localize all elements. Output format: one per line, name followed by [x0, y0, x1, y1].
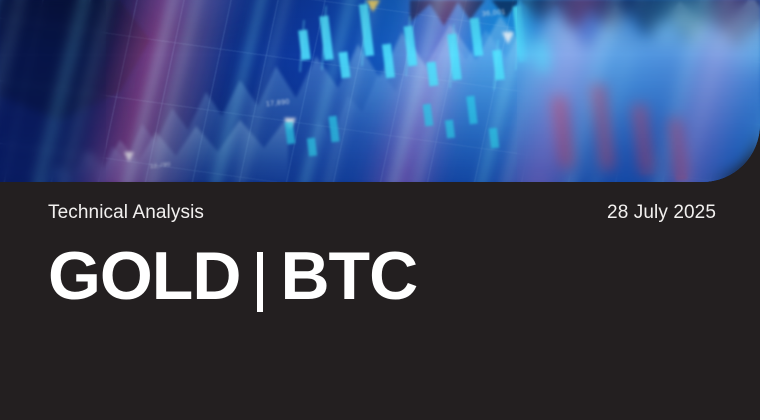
hero-depth-of-field-right	[517, 0, 760, 182]
hero-image-canvas: 17,890 36,001 12,790	[0, 0, 760, 182]
title-panel: Technical Analysis 28 July 2025 GOLD BTC	[0, 182, 760, 420]
hero-chart-image: 17,890 36,001 12,790	[0, 0, 760, 182]
technical-analysis-banner: 17,890 36,001 12,790 Technical Analysis …	[0, 0, 760, 420]
title-separator-bar	[257, 252, 263, 312]
page-title: GOLD BTC	[48, 242, 417, 310]
meta-row: Technical Analysis 28 July 2025	[48, 202, 716, 224]
title-asset-gold: GOLD	[48, 242, 240, 310]
kicker-label: Technical Analysis	[48, 202, 204, 224]
title-asset-btc: BTC	[280, 242, 417, 310]
hero-depth-of-field-left	[0, 0, 106, 182]
publication-date: 28 July 2025	[607, 202, 716, 224]
